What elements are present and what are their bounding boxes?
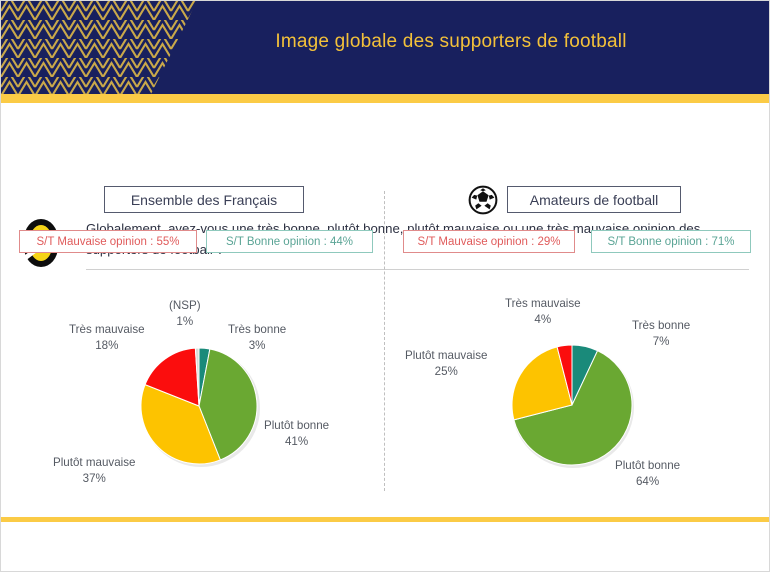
badge-left-mauvaise-opinion: S/T Mauvaise opinion : 55% [19,230,197,253]
tab-left-label: Ensemble des Français [131,192,277,208]
pie-right-label-plutot-bonne-name: Plutôt bonne [615,459,680,472]
pie-left-label-tres-bonne-name: Très bonne [228,323,286,336]
pie-left-label-tres-mauvaise-name: Très mauvaise [69,323,145,336]
pie-left-label-nsp-pct: 1% [169,314,201,330]
pie-left-label-plutot-mauvaise: Plutôt mauvaise 37% [53,455,136,486]
pie-right-label-tres-bonne-name: Très bonne [632,319,690,332]
pie-left-label-tres-bonne-pct: 3% [228,338,286,354]
pie-left-label-tres-bonne: Très bonne 3% [228,322,286,353]
slide-title: Image globale des supporters de football [1,31,770,53]
pie-right-label-tres-bonne-pct: 7% [632,334,690,350]
panel-divider [384,191,385,491]
pie-left-label-nsp: (NSP) 1% [169,298,201,329]
pie-right-label-plutot-mauvaise-pct: 25% [405,364,488,380]
pie-right-label-tres-mauvaise-pct: 4% [505,312,581,328]
pie-left-label-plutot-bonne: Plutôt bonne 41% [264,418,329,449]
pie-right-label-plutot-mauvaise: Plutôt mauvaise 25% [405,348,488,379]
footer: OD XA L'opinion tranchée RTL Groupama [1,522,770,572]
pie-left-label-tres-mauvaise: Très mauvaise 18% [69,322,145,353]
header-banner: Image globale des supporters de football [1,1,770,94]
pie-right-label-tres-bonne: Très bonne 7% [632,318,690,349]
pie-left-label-plutot-bonne-name: Plutôt bonne [264,419,329,432]
tab-right-label: Amateurs de football [530,192,658,208]
badge-right-good-label: S/T Bonne opinion : 71% [607,236,734,248]
pie-chart-ensemble-des-francais: (NSP) 1% Très mauvaise 18% Très bonne 3%… [1,286,384,501]
pie-right-label-plutot-mauvaise-name: Plutôt mauvaise [405,349,488,362]
slide-title-text: Image globale des supporters de football [145,31,626,53]
badge-left-bad-label: S/T Mauvaise opinion : 55% [37,236,180,248]
badge-left-bonne-opinion: S/T Bonne opinion : 44% [206,230,373,253]
pie-chart-amateurs-de-football: Très mauvaise 4% Très bonne 7% Plutôt ma… [387,286,770,501]
question-block: O Globalement, avez-vous une très bonne,… [1,105,770,167]
pie-left-label-plutot-mauvaise-pct: 37% [53,471,136,487]
slide: Image globale des supporters de football… [0,0,770,572]
pie-left-label-plutot-bonne-pct: 41% [264,434,329,450]
badge-right-bad-label: S/T Mauvaise opinion : 29% [418,236,561,248]
badge-right-mauvaise-opinion: S/T Mauvaise opinion : 29% [403,230,575,253]
badge-left-good-label: S/T Bonne opinion : 44% [226,236,353,248]
pie-right-label-plutot-bonne: Plutôt bonne 64% [615,458,680,489]
pie-right-label-tres-mauvaise-name: Très mauvaise [505,297,581,310]
tab-ensemble-des-francais[interactable]: Ensemble des Français [104,186,304,213]
pie-left-label-nsp-name: (NSP) [169,299,201,312]
soccer-ball-icon [467,184,499,216]
badge-right-bonne-opinion: S/T Bonne opinion : 71% [591,230,751,253]
pie-right-label-plutot-bonne-pct: 64% [615,474,680,490]
pie-left-label-tres-mauvaise-pct: 18% [69,338,145,354]
tab-amateurs-de-football[interactable]: Amateurs de football [507,186,681,213]
pie-right-label-tres-mauvaise: Très mauvaise 4% [505,296,581,327]
pie-left-label-plutot-mauvaise-name: Plutôt mauvaise [53,456,136,469]
question-divider [86,269,749,270]
gold-accent-bar [1,94,770,103]
